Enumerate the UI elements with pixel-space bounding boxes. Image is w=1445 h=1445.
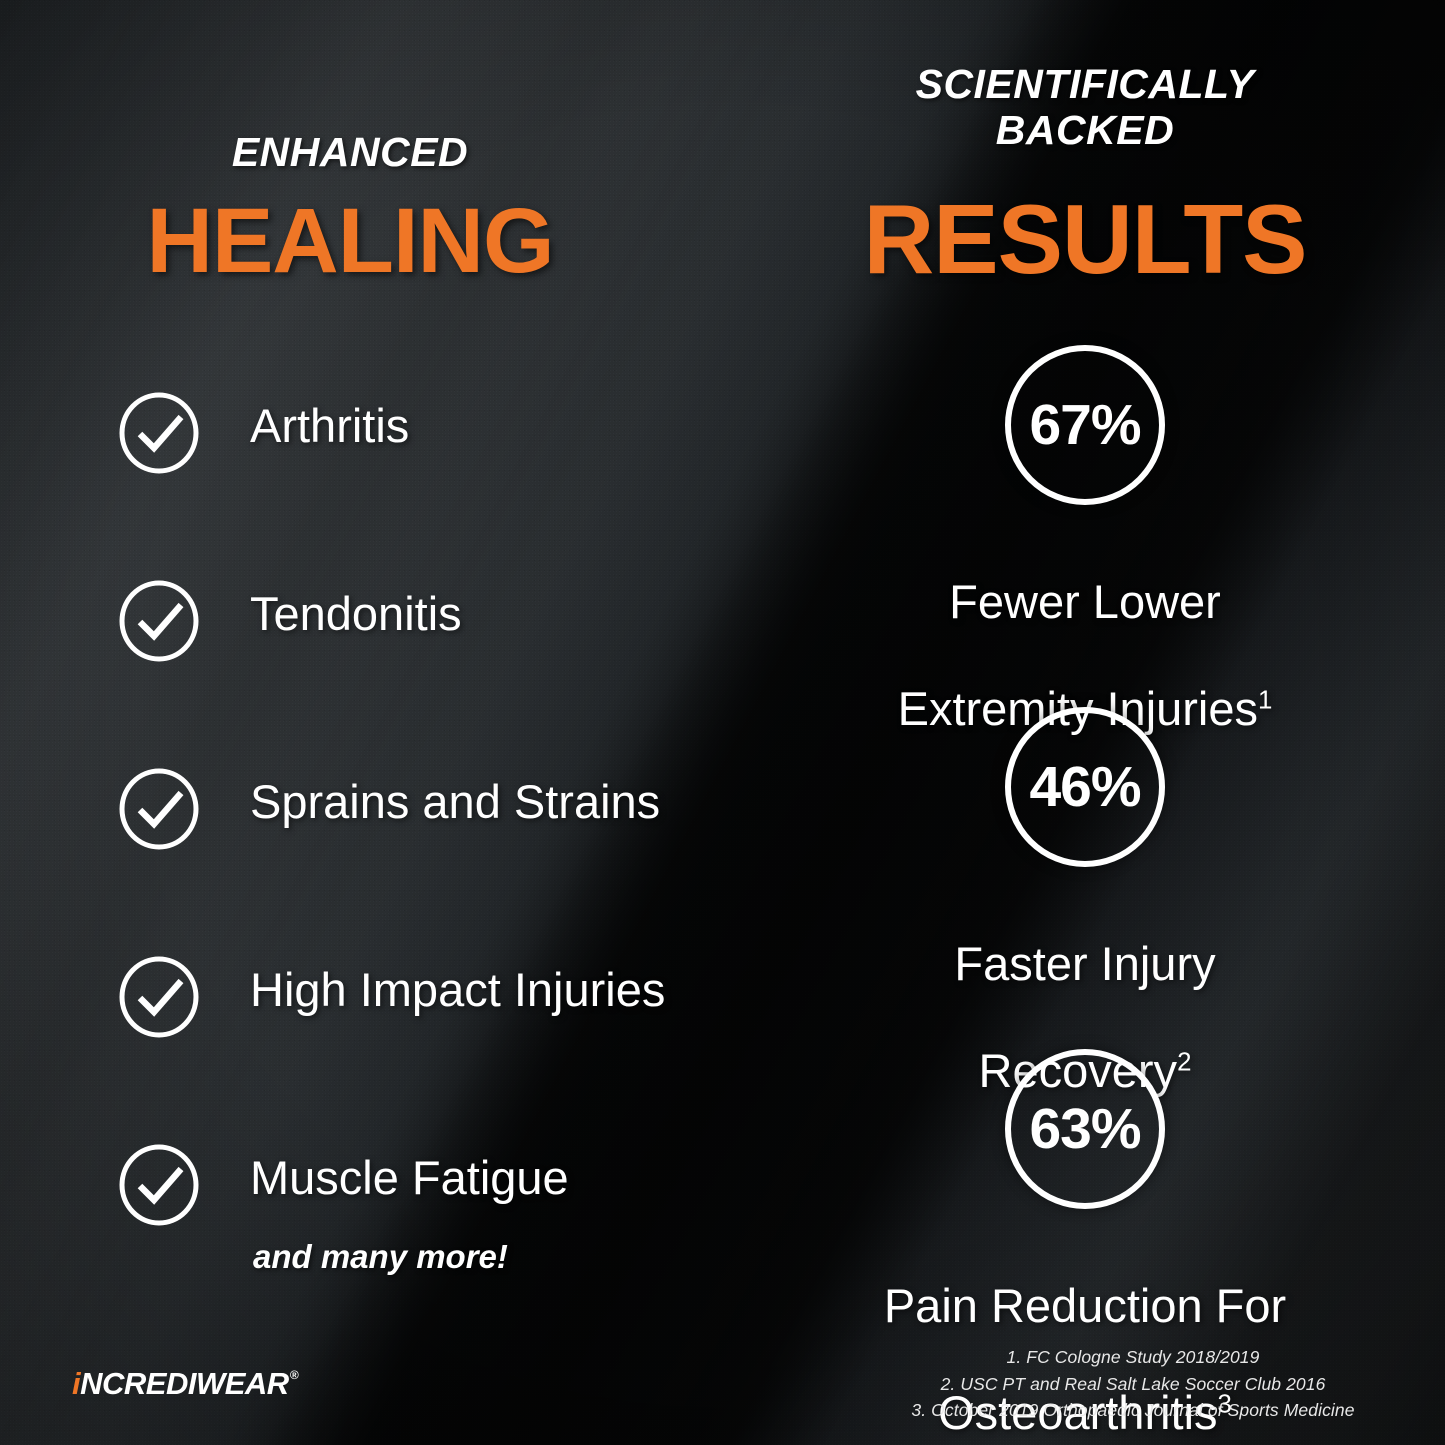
left-eyebrow: ENHANCED: [0, 130, 700, 176]
list-item: Tendonitis: [118, 580, 768, 768]
check-circle-icon: [118, 956, 200, 1038]
stat-caption: Fewer Lower Extremity Injuries1: [770, 521, 1400, 735]
stat-block: 46% Faster Injury Recovery2: [770, 707, 1400, 1097]
incrediwear-logo: iNCREDIWEAR®: [72, 1368, 298, 1399]
footnotes: 1. FC Cologne Study 2018/2019 2. USC PT …: [853, 1344, 1413, 1423]
footnote-line: 3. October 2019 Orthopaedic Journal of S…: [853, 1397, 1413, 1423]
right-eyebrow: SCIENTIFICALLY BACKED: [770, 62, 1400, 154]
and-many-more-note: and many more!: [253, 1238, 508, 1276]
logo-wordmark: NCREDIWEAR: [80, 1368, 289, 1399]
footnote-line: 2. USC PT and Real Salt Lake Soccer Club…: [853, 1371, 1413, 1397]
condition-list: Arthritis Tendonitis: [118, 392, 768, 1332]
left-headline: HEALING: [0, 195, 700, 287]
stat-circle: 46%: [1005, 707, 1165, 867]
stat-value: 46%: [1029, 759, 1140, 816]
registered-trademark-icon: ®: [290, 1369, 298, 1381]
list-item: Sprains and Strains: [118, 768, 768, 956]
check-circle-icon: [118, 1144, 200, 1226]
stat-value: 63%: [1029, 1101, 1140, 1158]
list-item: Arthritis: [118, 392, 768, 580]
infographic-poster: ENHANCED HEALING Arthritis: [0, 0, 1445, 1445]
footnote-line: 1. FC Cologne Study 2018/2019: [853, 1344, 1413, 1370]
stat-caption-line-1: Pain Reduction For: [884, 1279, 1286, 1332]
right-column: SCIENTIFICALLY BACKED RESULTS 67% Fewer …: [770, 0, 1445, 1445]
stat-circle: 63%: [1005, 1049, 1165, 1209]
list-item-label: Arthritis: [250, 398, 409, 453]
list-item-label: Tendonitis: [250, 586, 462, 641]
list-item-label: Muscle Fatigue: [250, 1150, 569, 1205]
check-circle-icon: [118, 580, 200, 662]
list-item-label: High Impact Injuries: [250, 962, 665, 1017]
stat-circle: 67%: [1005, 345, 1165, 505]
stat-value: 67%: [1029, 397, 1140, 454]
right-eyebrow-line-2: BACKED: [770, 108, 1400, 154]
right-headline: RESULTS: [770, 190, 1400, 288]
check-circle-icon: [118, 392, 200, 474]
list-item: High Impact Injuries: [118, 956, 768, 1144]
list-item-label: Sprains and Strains: [250, 774, 660, 829]
stat-block: 67% Fewer Lower Extremity Injuries1: [770, 345, 1400, 735]
left-column: ENHANCED HEALING Arthritis: [0, 0, 770, 1445]
logo-initial-i: i: [72, 1368, 80, 1399]
poster-content: ENHANCED HEALING Arthritis: [0, 0, 1445, 1445]
right-eyebrow-line-1: SCIENTIFICALLY: [770, 62, 1400, 108]
stat-caption-line-1: Fewer Lower: [949, 575, 1221, 628]
check-circle-icon: [118, 768, 200, 850]
stat-caption-line-1: Faster Injury: [954, 937, 1215, 990]
